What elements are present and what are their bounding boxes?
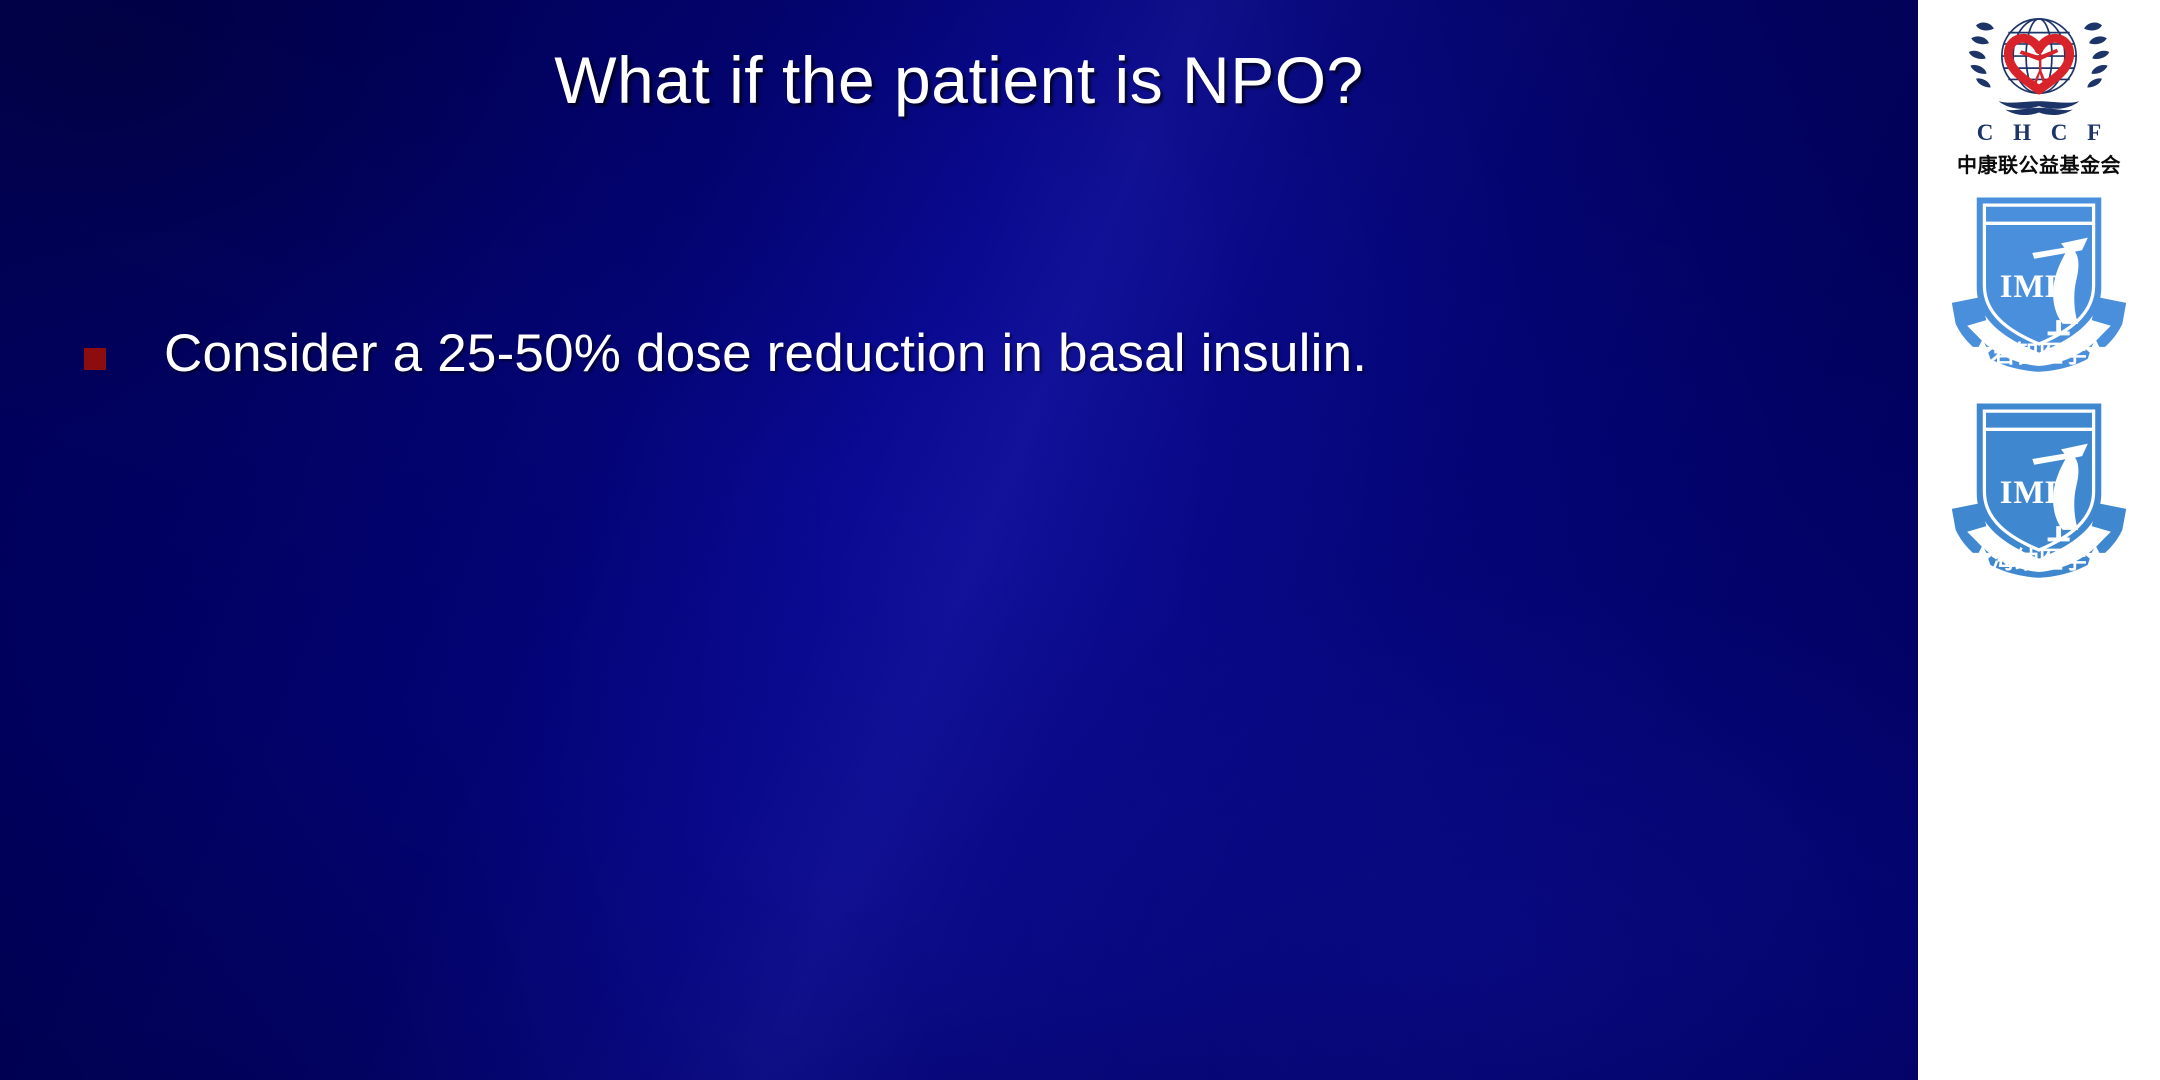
shield-imd-icon: IMD 海纳医学 <box>1948 384 2130 580</box>
shield-imd-text: IMD <box>2000 475 2070 511</box>
logo-imd-junzhi: IMD 君智医学 <box>1918 178 2160 384</box>
bullet-item-label: Consider a 25-50% dose reduction in basa… <box>164 322 1367 386</box>
shield-imd-text: IMD <box>2000 269 2070 305</box>
chcf-chinese-name: 中康联公益基金会 <box>1957 149 2121 178</box>
square-bullet-icon <box>84 348 106 370</box>
slide-background-vignette <box>0 0 1918 1080</box>
slide-canvas: What if the patient is NPO? Consider a 2… <box>0 0 1918 1080</box>
slide-title: What if the patient is NPO? <box>0 44 1918 118</box>
presentation-slide: What if the patient is NPO? Consider a 2… <box>0 0 2160 1080</box>
logo-sidebar: C H C F 中康联公益基金会 IMD <box>1918 0 2160 1080</box>
globe-heart-laurel-icon <box>1955 6 2123 119</box>
bullet-list-item: Consider a 25-50% dose reduction in basa… <box>84 322 1844 386</box>
logo-imd-haina: IMD 海纳医学 <box>1918 384 2160 590</box>
shield-banner-text-junzhi: 君智医学 <box>1991 340 2087 368</box>
logo-chcf: C H C F 中康联公益基金会 <box>1918 0 2160 178</box>
chcf-abbreviation: C H C F <box>1970 120 2108 146</box>
shield-banner-text-haina: 海纳医学 <box>1991 546 2087 574</box>
slide-body-content: Consider a 25-50% dose reduction in basa… <box>84 322 1844 412</box>
shield-imd-icon: IMD 君智医学 <box>1948 178 2130 374</box>
